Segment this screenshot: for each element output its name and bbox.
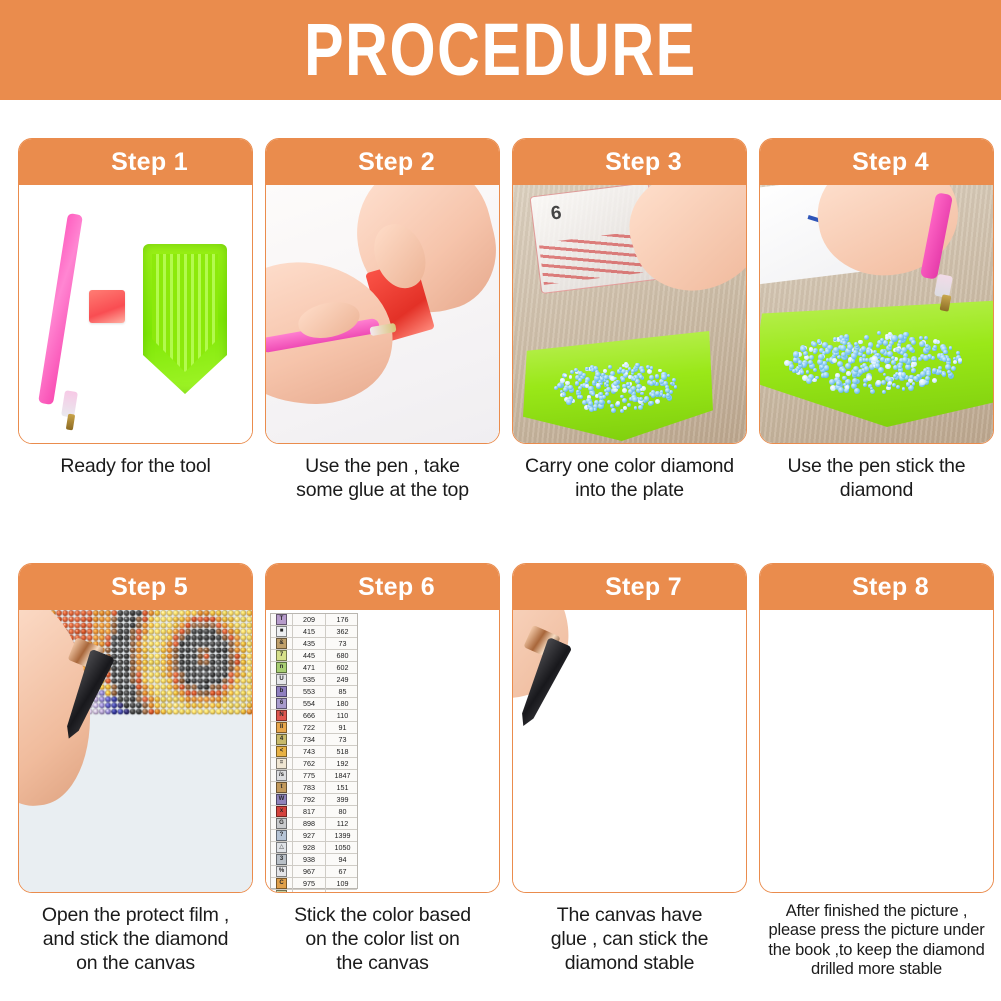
blue-drill — [557, 383, 562, 388]
blue-drill — [610, 404, 614, 408]
blue-drill — [569, 375, 573, 379]
blue-drill — [891, 335, 897, 341]
diamond-canvas-mosaic — [362, 610, 499, 892]
blue-drill — [578, 378, 582, 382]
color-chart-row: 6554180 — [271, 698, 357, 710]
blue-drill — [842, 376, 847, 381]
blue-drill — [585, 367, 589, 371]
procedure-infographic: PROCEDURE Step 1 — [0, 0, 1001, 1001]
blue-drill — [824, 365, 830, 371]
color-chart-code: 762 — [293, 758, 326, 769]
color-chart-row: %96767 — [271, 866, 357, 878]
blue-drill — [578, 386, 582, 390]
blue-drill — [833, 337, 837, 341]
page-header-banner: PROCEDURE — [0, 0, 1001, 100]
blue-drill — [909, 347, 914, 352]
blue-drill — [896, 385, 900, 389]
color-chart-count: 680 — [326, 650, 359, 661]
blue-drill — [864, 366, 869, 371]
blue-drill — [932, 368, 937, 373]
steps-row-bottom: Step 5 Open the protect film , and stick… — [18, 563, 984, 980]
color-chart-row: II72291 — [271, 722, 357, 734]
blue-drill — [575, 381, 579, 385]
diamond-canvas-mosaic — [760, 610, 993, 892]
blue-drill — [888, 381, 892, 385]
blue-drill — [655, 391, 659, 395]
color-chart-count: 1847 — [326, 770, 359, 781]
blue-drill — [595, 372, 600, 377]
color-chart-count: 73 — [326, 734, 359, 745]
color-chart-count: 85 — [326, 686, 359, 697]
steps-row-top: Step 1 Ready for the tool — [18, 138, 984, 503]
step-6-header: Step 6 — [266, 564, 499, 610]
color-chart-code: 722 — [293, 722, 326, 733]
blue-drill — [911, 364, 915, 368]
color-chart-code: 209 — [293, 614, 326, 625]
step-4-header: Step 4 — [760, 139, 993, 185]
color-chart-row: C975109 — [271, 878, 357, 890]
blue-drill — [859, 358, 864, 363]
step-4-frame: Step 4 — [759, 138, 994, 444]
step-6-caption: Stick the color based on the color list … — [265, 904, 500, 975]
step-5-image — [19, 610, 252, 892]
step-4-caption: Use the pen stick the diamond — [759, 455, 994, 503]
color-chart-code: 535 — [293, 674, 326, 685]
step-2-header: Step 2 — [266, 139, 499, 185]
blue-drill — [880, 349, 885, 354]
color-chart-count: 80 — [326, 806, 359, 817]
step-8-caption: After finished the picture , please pres… — [759, 902, 994, 980]
step-8-frame: Step 8 — [759, 563, 994, 893]
page-title: PROCEDURE — [304, 13, 697, 87]
color-chart-row: U535249 — [271, 674, 357, 686]
color-chart-row: 393894 — [271, 854, 357, 866]
color-chart-symbol: < — [271, 746, 293, 757]
color-chart-symbol: 4 — [271, 734, 293, 745]
blue-drill — [813, 368, 817, 372]
color-chart-code: 666 — [293, 710, 326, 721]
color-chart-count: 249 — [326, 674, 359, 685]
step-8-header: Step 8 — [760, 564, 993, 610]
blue-drill — [789, 364, 794, 369]
color-chart-symbol: x — [271, 806, 293, 817]
color-chart-count: 176 — [326, 614, 359, 625]
blue-drill — [626, 382, 630, 386]
step-2-title: Step 2 — [330, 148, 435, 177]
blue-drill — [635, 363, 640, 368]
blue-drill — [640, 369, 644, 373]
step-card-1: Step 1 Ready for the tool — [18, 138, 253, 503]
finished-painting-illustration — [760, 610, 993, 892]
blue-drill — [599, 392, 603, 396]
stick-diamond-illustration — [513, 610, 746, 892]
blue-drill — [611, 408, 616, 413]
color-chart-count: 518 — [326, 746, 359, 757]
color-chart-code: 927 — [293, 830, 326, 841]
blue-drill — [933, 345, 937, 349]
step-1-header: Step 1 — [19, 139, 252, 185]
color-chart-symbol: 7 — [271, 650, 293, 661]
color-chart-code: 3013 — [293, 890, 326, 892]
color-code-chart-table: T209176■415362&435737445680n471602U53524… — [270, 613, 358, 889]
blue-drill — [798, 360, 803, 365]
blue-drill — [610, 376, 615, 381]
color-chart-row: Y3013526 — [271, 890, 357, 892]
step-6-title: Step 6 — [330, 573, 435, 602]
blue-drill — [627, 403, 631, 407]
step-2-caption: Use the pen , take some glue at the top — [265, 455, 500, 503]
blue-drill — [845, 385, 850, 390]
blue-drill — [639, 375, 643, 379]
color-chart-symbol: II — [271, 722, 293, 733]
color-chart-count: 192 — [326, 758, 359, 769]
color-chart-code: 415 — [293, 626, 326, 637]
blue-drill — [942, 357, 947, 362]
color-chart-count: 109 — [326, 878, 359, 889]
step-7-image — [513, 610, 746, 892]
step-1-caption: Ready for the tool — [18, 455, 253, 479]
blue-drill — [591, 392, 595, 396]
blue-drill — [813, 350, 817, 354]
color-chart-count: 67 — [326, 866, 359, 877]
blue-drill — [655, 399, 660, 404]
blue-drill — [845, 363, 851, 369]
color-chart-count: 526 — [326, 890, 359, 892]
color-chart-count: 1050 — [326, 842, 359, 853]
color-chart-count: 362 — [326, 626, 359, 637]
pink-pen-icon — [38, 213, 83, 405]
step-3-title: Step 3 — [577, 148, 682, 177]
color-chart-symbol: T — [271, 614, 293, 625]
step-3-caption: Carry one color diamond into the plate — [512, 455, 747, 503]
color-chart-code: 938 — [293, 854, 326, 865]
color-chart-symbol: 6 — [271, 698, 293, 709]
blue-drill — [945, 364, 951, 370]
blue-drill — [851, 359, 855, 363]
color-chart-count: 94 — [326, 854, 359, 865]
step-card-8: Step 8 After finished the picture , plea… — [759, 563, 994, 980]
step-3-image: 6 — [513, 185, 746, 443]
color-chart-symbol: & — [271, 638, 293, 649]
blue-drill — [953, 360, 957, 364]
color-chart-symbol: ? — [271, 830, 293, 841]
color-chart-count: 180 — [326, 698, 359, 709]
color-chart-row: T209176 — [271, 614, 357, 626]
blue-drill — [876, 344, 880, 348]
color-chart-code: 967 — [293, 866, 326, 877]
blue-drill — [806, 370, 810, 374]
blue-drill — [800, 370, 805, 375]
color-chart-row: t783151 — [271, 782, 357, 794]
blue-drill — [613, 381, 618, 386]
step-6-image: T209176■415362&435737445680n471602U53524… — [266, 610, 499, 892]
blue-drill — [631, 369, 635, 373]
color-chart-row: G898112 — [271, 818, 357, 830]
blue-drill — [841, 368, 846, 373]
color-chart-symbol: ■ — [271, 626, 293, 637]
blue-drill — [606, 387, 611, 392]
blue-drill — [616, 401, 620, 405]
blue-drill — [840, 345, 846, 351]
step-1-title: Step 1 — [83, 148, 188, 177]
color-chart-code: 898 — [293, 818, 326, 829]
step-card-7: Step 7 The canvas have glue , can stick … — [512, 563, 747, 980]
blue-drill — [847, 344, 853, 350]
color-chart-symbol: △ — [271, 842, 293, 853]
blue-drill — [854, 342, 858, 346]
blue-drill — [634, 406, 637, 409]
blue-drill — [926, 372, 931, 377]
step-7-title: Step 7 — [577, 573, 682, 602]
blue-drill — [885, 364, 891, 370]
step-5-header: Step 5 — [19, 564, 252, 610]
blue-drill — [923, 355, 929, 361]
step-5-caption: Open the protect film , and stick the di… — [18, 904, 253, 975]
color-chart-row: &43573 — [271, 638, 357, 650]
color-chart-symbol: 3 — [271, 854, 293, 865]
color-chart-count: 1399 — [326, 830, 359, 841]
color-chart-code: 445 — [293, 650, 326, 661]
blue-drill — [672, 378, 676, 382]
blue-drill — [898, 340, 902, 344]
color-chart-symbol: /s — [271, 770, 293, 781]
blue-drill — [958, 358, 962, 362]
step-3-header: Step 3 — [513, 139, 746, 185]
blue-drill — [793, 351, 799, 357]
blue-drill — [918, 357, 922, 361]
canvas-pen-illustration — [19, 610, 252, 892]
blue-drill — [661, 374, 667, 380]
blue-drill — [674, 385, 678, 389]
blue-drill — [906, 382, 911, 387]
blue-drill — [902, 357, 908, 363]
color-chart-code: 553 — [293, 686, 326, 697]
blue-drill — [823, 372, 829, 378]
blue-drill — [885, 336, 889, 340]
blue-drill — [599, 399, 605, 405]
pour-diamonds-illustration: 6 — [513, 185, 746, 443]
blue-drill — [911, 368, 916, 373]
step-2-image — [266, 185, 499, 443]
blue-drill — [641, 403, 644, 406]
blue-drill — [866, 349, 872, 355]
color-chart-count: 399 — [326, 794, 359, 805]
blue-drill — [886, 358, 891, 363]
blue-drill — [655, 374, 659, 378]
color-chart-code: 928 — [293, 842, 326, 853]
step-4-image — [760, 185, 993, 443]
blue-drill — [825, 349, 830, 354]
color-chart-symbol: b — [271, 686, 293, 697]
blue-drill — [866, 375, 872, 381]
step-7-header: Step 7 — [513, 564, 746, 610]
color-chart-row: W792399 — [271, 794, 357, 806]
blue-drill — [829, 379, 835, 385]
step-3-frame: Step 3 6 — [512, 138, 747, 444]
blue-drill — [846, 371, 851, 376]
color-chart-count: 151 — [326, 782, 359, 793]
color-chart-row: ?9271399 — [271, 830, 357, 842]
color-chart-symbol: = — [271, 758, 293, 769]
color-chart-row: <743518 — [271, 746, 357, 758]
color-chart-symbol: % — [271, 866, 293, 877]
blue-drill — [942, 372, 947, 377]
color-chart-count: 112 — [326, 818, 359, 829]
step-2-frame: Step 2 — [265, 138, 500, 444]
blue-drill — [911, 340, 916, 345]
step-8-image — [760, 610, 993, 892]
step-5-title: Step 5 — [83, 573, 188, 602]
color-chart-row: ■415362 — [271, 626, 357, 638]
blue-drill — [806, 378, 812, 384]
color-chart-symbol: n — [271, 662, 293, 673]
blue-drill — [665, 388, 670, 393]
color-chart-symbol: C — [271, 878, 293, 889]
step-7-caption: The canvas have glue , can stick the dia… — [512, 904, 747, 975]
color-chart-row: 7445680 — [271, 650, 357, 662]
blue-drill — [623, 406, 627, 410]
color-chart-symbol: U — [271, 674, 293, 685]
color-chart-row: =762192 — [271, 758, 357, 770]
blue-drill — [818, 354, 824, 360]
blue-drill — [878, 367, 884, 373]
blue-drill — [832, 358, 837, 363]
color-chart-row: n471602 — [271, 662, 357, 674]
blue-drill — [880, 357, 885, 362]
step-1-frame: Step 1 — [18, 138, 253, 444]
step-6-frame: Step 6 T209176■415362&435737445680n47160… — [265, 563, 500, 893]
blue-drill — [644, 396, 649, 401]
color-chart-code: 554 — [293, 698, 326, 709]
pen-tip-icon — [66, 414, 75, 431]
color-chart-symbol: N — [271, 710, 293, 721]
color-chart-code: 775 — [293, 770, 326, 781]
blue-drill — [576, 390, 580, 394]
blue-drill — [858, 340, 862, 344]
blue-drill — [919, 379, 925, 385]
color-chart-illustration: T209176■415362&435737445680n471602U53524… — [266, 610, 499, 892]
color-chart-symbol: Y — [271, 890, 293, 892]
color-chart-count: 91 — [326, 722, 359, 733]
step-card-2: Step 2 Use the pen , take some glue at t… — [265, 138, 500, 503]
blue-drill — [632, 397, 638, 403]
blue-drill — [566, 399, 571, 404]
step-card-6: Step 6 T209176■415362&435737445680n47160… — [265, 563, 500, 980]
blue-drill — [650, 366, 654, 370]
blue-drill — [912, 382, 916, 386]
color-chart-count: 602 — [326, 662, 359, 673]
color-chart-row: /s7751847 — [271, 770, 357, 782]
color-chart-row: 473473 — [271, 734, 357, 746]
color-chart-code: 792 — [293, 794, 326, 805]
blue-drill — [568, 385, 573, 390]
color-chart-code: 975 — [293, 878, 326, 889]
color-chart-symbol: t — [271, 782, 293, 793]
color-chart-code: 817 — [293, 806, 326, 817]
blue-drill — [585, 384, 589, 388]
color-chart-code: 471 — [293, 662, 326, 673]
blue-drill — [951, 366, 956, 371]
color-chart-code: 734 — [293, 734, 326, 745]
blue-drill — [631, 386, 636, 391]
step-4-title: Step 4 — [824, 148, 929, 177]
color-chart-row: △9281050 — [271, 842, 357, 854]
blue-drill — [943, 350, 948, 355]
color-chart-count: 110 — [326, 710, 359, 721]
hands-glue-illustration — [266, 185, 499, 443]
color-chart-row: x81780 — [271, 806, 357, 818]
blue-drill — [838, 387, 844, 393]
color-chart-row: N666110 — [271, 710, 357, 722]
step-card-4: Step 4 Use the pen st — [759, 138, 994, 503]
tools-illustration — [19, 185, 252, 443]
blue-drill — [604, 375, 609, 380]
color-chart-symbol: W — [271, 794, 293, 805]
blue-drill — [876, 380, 881, 385]
step-card-3: Step 3 6 Carry one color diamond into th… — [512, 138, 747, 503]
step-8-title: Step 8 — [824, 573, 929, 602]
blue-drill — [905, 364, 911, 370]
step-5-frame: Step 5 — [18, 563, 253, 893]
blue-drill — [592, 381, 595, 384]
pick-diamond-illustration — [760, 185, 993, 443]
color-chart-row: b55385 — [271, 686, 357, 698]
color-chart-code: 783 — [293, 782, 326, 793]
color-chart-code: 743 — [293, 746, 326, 757]
step-card-5: Step 5 Open the protect film , and stick… — [18, 563, 253, 980]
color-chart-symbol: G — [271, 818, 293, 829]
glue-square-icon — [89, 290, 125, 323]
blue-drill — [622, 388, 627, 393]
color-chart-count: 73 — [326, 638, 359, 649]
blue-drill — [871, 356, 877, 362]
step-1-image — [19, 185, 252, 443]
step-7-frame: Step 7 — [512, 563, 747, 893]
color-chart-code: 435 — [293, 638, 326, 649]
blue-drill — [901, 372, 907, 378]
